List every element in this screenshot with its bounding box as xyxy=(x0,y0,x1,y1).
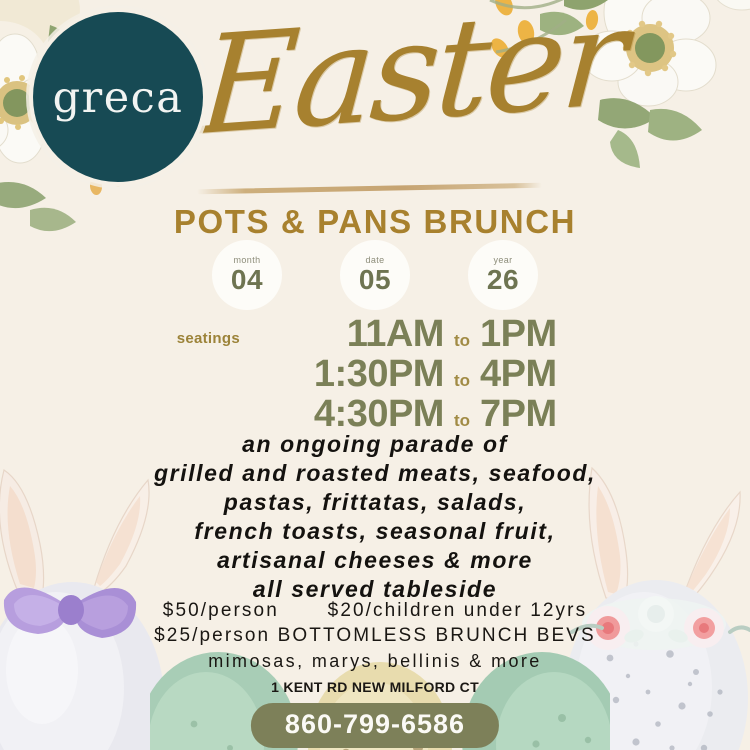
seating-end-2: 4PM xyxy=(480,353,590,396)
date-value-year: 26 xyxy=(487,264,519,296)
pricing-block: $50/person $20/children under 12yrs $25/… xyxy=(0,598,750,673)
brand-logo-text: greca xyxy=(53,77,184,120)
easter-brunch-poster: greca Easter POTS & PANS BRUNCH month 04… xyxy=(0,0,750,750)
date-circle-year: year 26 xyxy=(468,240,538,310)
menu-line-3: pastas, frittatas, salads, xyxy=(0,488,750,517)
price-children: $20/children under 12yrs xyxy=(328,600,588,621)
menu-description: an ongoing parade of grilled and roasted… xyxy=(0,430,750,604)
seating-start-1: 11AM xyxy=(266,313,444,356)
price-bevs: $25/person BOTTOMLESS BRUNCH BEVS xyxy=(0,623,750,648)
seating-end-1: 1PM xyxy=(480,313,590,356)
seating-row-1: 11AM to 1PM xyxy=(266,313,590,356)
menu-line-2: grilled and roasted meats, seafood, xyxy=(0,459,750,488)
page-title: POTS & PANS BRUNCH xyxy=(0,203,750,241)
gold-underline-rule xyxy=(197,183,542,195)
seating-separator-2: to xyxy=(444,371,480,391)
seatings-label: seatings xyxy=(160,330,240,347)
phone-button[interactable]: 860-799-6586 xyxy=(251,703,499,748)
seating-start-2: 1:30PM xyxy=(266,353,444,396)
phone-number: 860-799-6586 xyxy=(285,709,465,739)
brand-logo-badge: greca xyxy=(33,12,203,182)
venue-address: 1 KENT RD NEW MILFORD CT xyxy=(0,679,750,695)
price-row-adult-children: $50/person $20/children under 12yrs xyxy=(0,598,750,623)
seating-row-2: 1:30PM to 4PM xyxy=(266,353,590,396)
seatings-block: seatings 11AM to 1PM 1:30PM to 4PM 4:30P… xyxy=(0,313,750,433)
menu-line-5: artisanal cheeses & more xyxy=(0,546,750,575)
price-bevs-detail: mimosas, marys, bellinis & more xyxy=(0,649,750,673)
easter-script-title: Easter xyxy=(196,0,627,154)
date-circle-row: month 04 date 05 year 26 xyxy=(0,240,750,310)
menu-line-1: an ongoing parade of xyxy=(0,430,750,459)
price-adult: $50/person xyxy=(163,600,279,621)
seatings-times: 11AM to 1PM 1:30PM to 4PM 4:30PM to 7PM xyxy=(266,313,590,433)
seating-separator-3: to xyxy=(444,411,480,431)
menu-line-4: french toasts, seasonal fruit, xyxy=(0,517,750,546)
date-circle-date: date 05 xyxy=(340,240,410,310)
date-value-month: 04 xyxy=(231,264,263,296)
date-circle-month: month 04 xyxy=(212,240,282,310)
date-value-date: 05 xyxy=(359,264,391,296)
seating-separator-1: to xyxy=(444,331,480,351)
